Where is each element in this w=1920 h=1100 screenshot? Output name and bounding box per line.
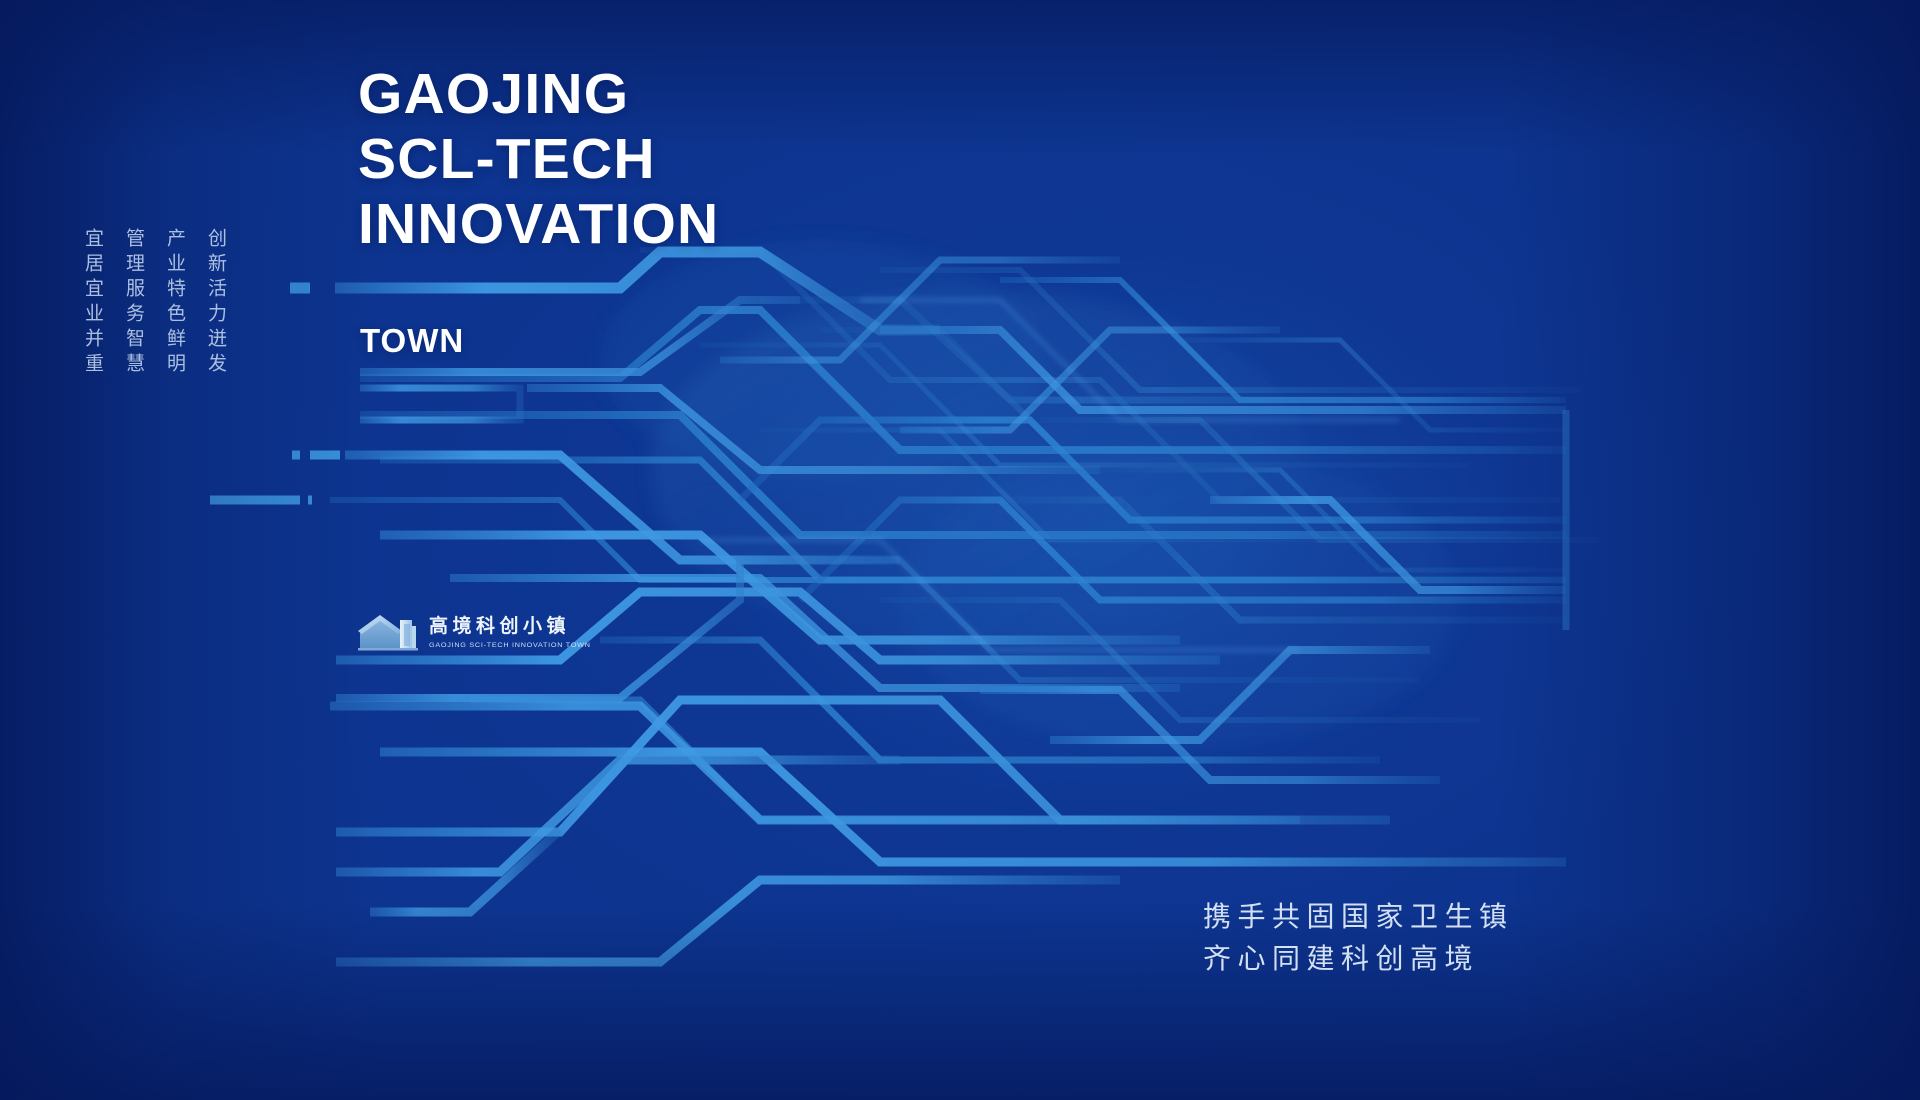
logo-text: 高境科创小镇 GAOJING SCI-TECH INNOVATION TOWN [429, 616, 591, 649]
logo-english-name: GAOJING SCI-TECH INNOVATION TOWN [429, 640, 591, 649]
poster-canvas: GAOJING SCL-TECH INNOVATION TOWN 创新活力迸发 … [0, 0, 1920, 1100]
circuit-trace-background [0, 0, 1920, 1100]
logo-lockup[interactable]: 高境科创小镇 GAOJING SCI-TECH INNOVATION TOWN [358, 612, 591, 652]
vertical-slogan: 创新活力迸发 产业特色鲜明 管理服务智慧 宜居宜业并重 [82, 228, 226, 378]
page-title: GAOJING SCL-TECH INNOVATION [358, 62, 719, 257]
vertical-slogan-column-2: 产业特色鲜明 [164, 228, 185, 378]
vertical-slogan-column-4: 宜居宜业并重 [82, 228, 103, 378]
house-building-icon [358, 612, 418, 652]
bottom-slogan-line-2: 齐心同建科创高境 [1203, 940, 1514, 977]
logo-chinese-name: 高境科创小镇 [429, 616, 591, 637]
title-line-3: INNOVATION [358, 192, 719, 257]
bottom-slogan-line-1: 携手共固国家卫生镇 [1203, 898, 1514, 935]
title-line-2: SCL-TECH [358, 127, 719, 192]
bottom-slogan: 携手共固国家卫生镇 齐心同建科创高境 [1203, 898, 1514, 977]
vertical-slogan-column-3: 管理服务智慧 [123, 228, 144, 378]
title-line-1: GAOJING [358, 62, 719, 127]
title-town-word: TOWN [360, 322, 464, 360]
vertical-slogan-column-1: 创新活力迸发 [205, 228, 226, 378]
